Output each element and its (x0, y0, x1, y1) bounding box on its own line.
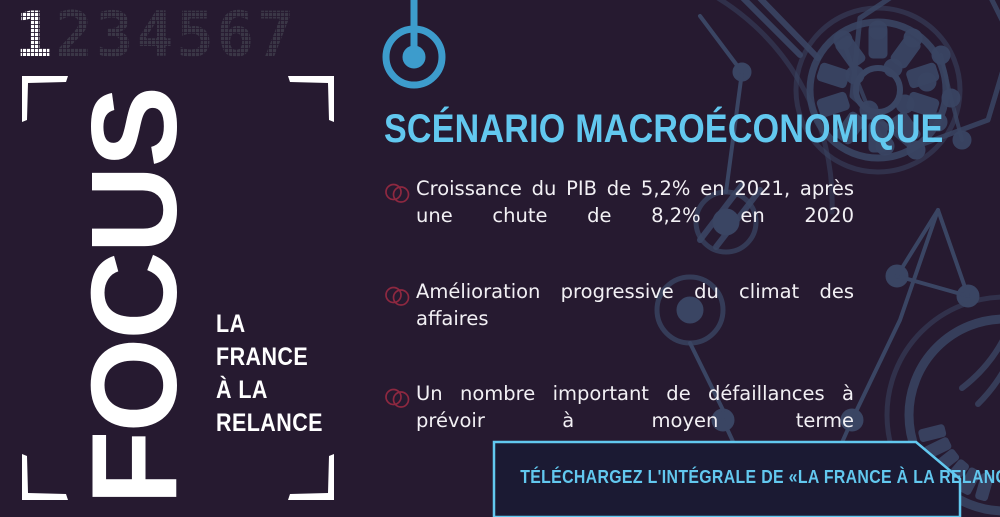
pin-marker-icon (386, 0, 442, 85)
bullet-text: Amélioration progressive du climat des a… (416, 279, 854, 360)
step-digit-3: 3 (95, 4, 135, 66)
step-digit-2: 2 (54, 4, 94, 66)
download-cta-button[interactable]: TÉLÉCHARGEZ L'INTÉGRALE DE «LA FRANCE À … (492, 439, 962, 517)
step-counter: 1 2 3 4 5 6 7 (14, 4, 296, 66)
bullet-item: Amélioration progressive du climat des a… (384, 279, 854, 360)
focus-wordmark: FOCUS (73, 105, 195, 505)
infographic-slide: 1 2 3 4 5 6 7 FOCUS LA FRANCE À LA RELAN… (0, 0, 1000, 517)
download-cta-label: TÉLÉCHARGEZ L'INTÉGRALE DE «LA FRANCE À … (520, 467, 934, 488)
corner-bracket-bottom-left-icon (22, 454, 68, 500)
step-digit-7: 7 (256, 4, 296, 66)
focus-panel: FOCUS LA FRANCE À LA RELANCE (18, 72, 338, 504)
step-digit-1: 1 (14, 4, 54, 66)
step-digit-5: 5 (175, 4, 215, 66)
linked-rings-bullet-icon (384, 181, 410, 205)
page-title: SCÉNARIO MACROÉCONOMIQUE (384, 108, 784, 150)
content-column: SCÉNARIO MACROÉCONOMIQUE Croissance du P… (384, 108, 854, 484)
bullet-item: Croissance du PIB de 5,2% en 2021, après… (384, 176, 854, 257)
corner-bracket-bottom-right-icon (288, 454, 334, 500)
corner-bracket-top-left-icon (22, 76, 68, 122)
step-digit-6: 6 (216, 4, 256, 66)
bullet-text: Croissance du PIB de 5,2% en 2021, après… (416, 176, 854, 257)
focus-subtitle: LA FRANCE À LA RELANCE (216, 308, 323, 440)
step-digit-4: 4 (135, 4, 175, 66)
linked-rings-bullet-icon (384, 284, 410, 308)
corner-bracket-top-right-icon (288, 76, 334, 122)
linked-rings-bullet-icon (384, 386, 410, 410)
